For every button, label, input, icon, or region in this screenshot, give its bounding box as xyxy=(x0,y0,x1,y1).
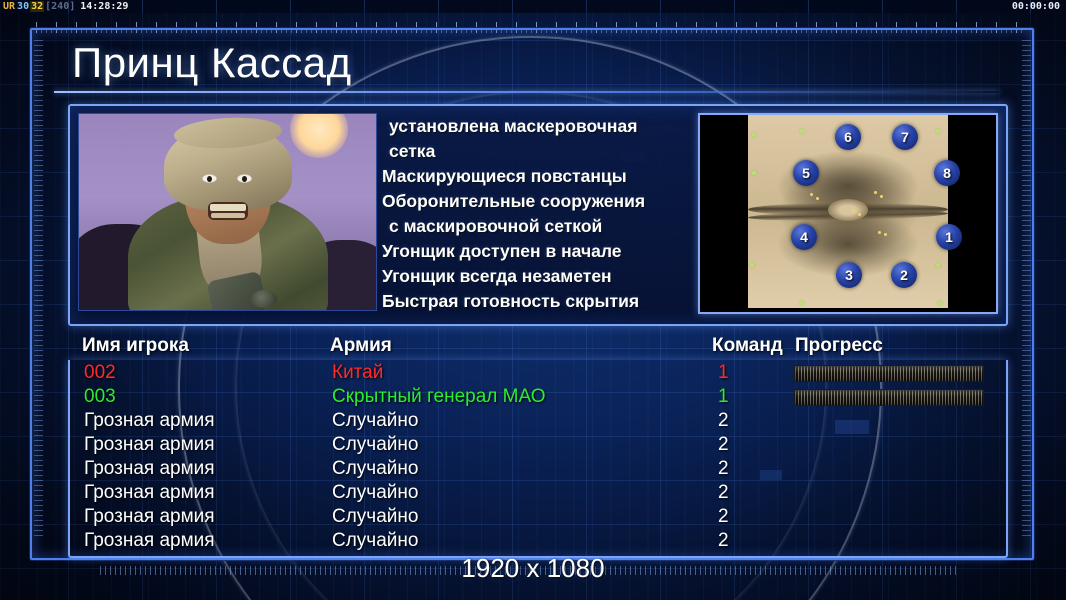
cell-player-name: Грозная армия xyxy=(84,409,215,433)
map-start-position-4[interactable]: 4 xyxy=(791,224,817,250)
footer: 1920 x 1080 xyxy=(0,552,1066,586)
cell-team: 2 xyxy=(718,433,729,457)
map-resource-gold xyxy=(852,209,855,212)
map-start-position-label: 8 xyxy=(934,160,960,186)
player-table: 002Китай1003Скрытный генерал МАО1Грозная… xyxy=(68,360,1008,558)
cell-team: 1 xyxy=(718,385,729,409)
cell-army: Случайно xyxy=(332,409,418,433)
description-line: Быстрая готовность скрытия xyxy=(382,289,692,314)
cell-player-name: Грозная армия xyxy=(84,433,215,457)
general-description: установлена маскеровочная сетка Маскирую… xyxy=(382,114,692,314)
description-line: установлена маскеровочная xyxy=(382,114,692,139)
cell-player-name: 003 xyxy=(84,385,116,409)
table-row[interactable]: Грозная армияСлучайно2 xyxy=(70,457,1006,481)
map-center-clearing xyxy=(828,199,868,221)
portrait-teeth-lower xyxy=(211,213,245,218)
status-time: 14:28:29 xyxy=(79,1,129,12)
status-bracket: [240] xyxy=(44,1,76,12)
description-line: Угонщик всегда незаметен xyxy=(382,264,692,289)
description-line: Маскирующиеся повстанцы xyxy=(382,164,692,189)
map-start-position-7[interactable]: 7 xyxy=(892,124,918,150)
cell-team: 2 xyxy=(718,409,729,433)
portrait-pupil xyxy=(242,176,247,182)
cell-team: 2 xyxy=(718,529,729,553)
column-header-team: Команд xyxy=(712,334,783,358)
cell-army: Случайно xyxy=(332,529,418,553)
map-start-position-5[interactable]: 5 xyxy=(793,160,819,186)
map-resource-gold xyxy=(810,193,813,196)
description-line: с маскировочной сеткой xyxy=(382,214,692,239)
map-resource xyxy=(800,301,804,305)
cell-team: 2 xyxy=(718,481,729,505)
map-start-position-label: 6 xyxy=(835,124,861,150)
cell-team: 2 xyxy=(718,457,729,481)
cell-team: 1 xyxy=(718,361,729,385)
cell-army: Случайно xyxy=(332,433,418,457)
status-bar-grid xyxy=(0,0,1066,13)
status-bar: UR3032[240]14:28:29 00:00:00 xyxy=(0,0,1066,13)
portrait-pupil xyxy=(207,176,212,182)
map-resource-gold xyxy=(858,213,861,216)
table-row[interactable]: Грозная армияСлучайно2 xyxy=(70,409,1006,433)
map-resource xyxy=(750,263,754,267)
map-resource xyxy=(936,263,940,267)
column-header-player: Имя игрока xyxy=(82,334,189,358)
cell-player-name: Грозная армия xyxy=(84,457,215,481)
cell-player-name: Грозная армия xyxy=(84,481,215,505)
map-resource-gold xyxy=(880,195,883,198)
status-clock: 00:00:00 xyxy=(1012,1,1060,12)
progress-bar xyxy=(794,365,984,382)
table-row[interactable]: Грозная армияСлучайно2 xyxy=(70,433,1006,457)
status-bar-left: UR3032[240]14:28:29 xyxy=(2,1,129,12)
cell-army: Китай xyxy=(332,361,383,385)
cell-player-name: Грозная армия xyxy=(84,505,215,529)
cell-army: Случайно xyxy=(332,481,418,505)
cell-player-name: 002 xyxy=(84,361,116,385)
table-row[interactable]: Грозная армияСлучайно2 xyxy=(70,505,1006,529)
map-resource-gold xyxy=(878,231,881,234)
status-num2: 32 xyxy=(30,1,44,12)
title-band: Принц Кассад xyxy=(44,36,1006,94)
column-header-army: Армия xyxy=(330,334,392,358)
cell-army: Скрытный генерал МАО xyxy=(332,385,546,409)
map-start-position-label: 7 xyxy=(892,124,918,150)
map-resource-gold xyxy=(816,197,819,200)
progress-bar xyxy=(794,389,984,406)
map-start-position-3[interactable]: 3 xyxy=(836,262,862,288)
resolution-label: 1920 x 1080 xyxy=(0,552,1066,584)
title-underline xyxy=(54,91,999,93)
map-start-position-2[interactable]: 2 xyxy=(891,262,917,288)
description-line: сетка xyxy=(382,139,692,164)
map-resource xyxy=(752,133,756,137)
table-row[interactable]: Грозная армияСлучайно2 xyxy=(70,481,1006,505)
general-portrait xyxy=(78,113,377,311)
map-start-position-label: 1 xyxy=(936,224,962,250)
map-start-position-label: 4 xyxy=(791,224,817,250)
description-line: Угонщик доступен в начале xyxy=(382,239,692,264)
column-header-progress: Прогресс xyxy=(795,334,883,358)
cell-army: Случайно xyxy=(332,457,418,481)
cell-team: 2 xyxy=(718,505,729,529)
table-row[interactable]: Грозная армияСлучайно2 xyxy=(70,529,1006,553)
table-row[interactable]: 003Скрытный генерал МАО1 xyxy=(70,385,1006,409)
general-info-panel: установлена маскеровочная сетка Маскирую… xyxy=(68,104,1008,326)
map-start-position-6[interactable]: 6 xyxy=(835,124,861,150)
map-start-position-label: 2 xyxy=(891,262,917,288)
map-start-position-label: 3 xyxy=(836,262,862,288)
cell-army: Случайно xyxy=(332,505,418,529)
page-title: Принц Кассад xyxy=(72,34,352,92)
map-resource-gold xyxy=(874,191,877,194)
map-resource xyxy=(936,129,940,133)
status-label: UR xyxy=(2,1,16,12)
map-resource-gold xyxy=(884,233,887,236)
map-resource xyxy=(752,171,756,175)
map-preview[interactable]: 67584132 xyxy=(698,113,998,314)
table-header: Имя игрока Армия Команд Прогресс xyxy=(68,334,1004,358)
status-num1: 30 xyxy=(16,1,30,12)
portrait-eye-right xyxy=(237,174,252,183)
map-start-position-1[interactable]: 1 xyxy=(936,224,962,250)
map-resource xyxy=(938,301,942,305)
portrait-eye-left xyxy=(202,174,217,183)
portrait-mouth xyxy=(208,202,248,220)
portrait-teeth-upper xyxy=(210,204,246,211)
cell-player-name: Грозная армия xyxy=(84,529,215,553)
map-resource xyxy=(800,129,804,133)
table-row[interactable]: 002Китай1 xyxy=(70,361,1006,385)
game-screen: UR3032[240]14:28:29 00:00:00 Принц Касса… xyxy=(0,0,1066,600)
map-start-position-label: 5 xyxy=(793,160,819,186)
description-line: Оборонительные сооружения xyxy=(382,189,692,214)
map-start-position-8[interactable]: 8 xyxy=(934,160,960,186)
